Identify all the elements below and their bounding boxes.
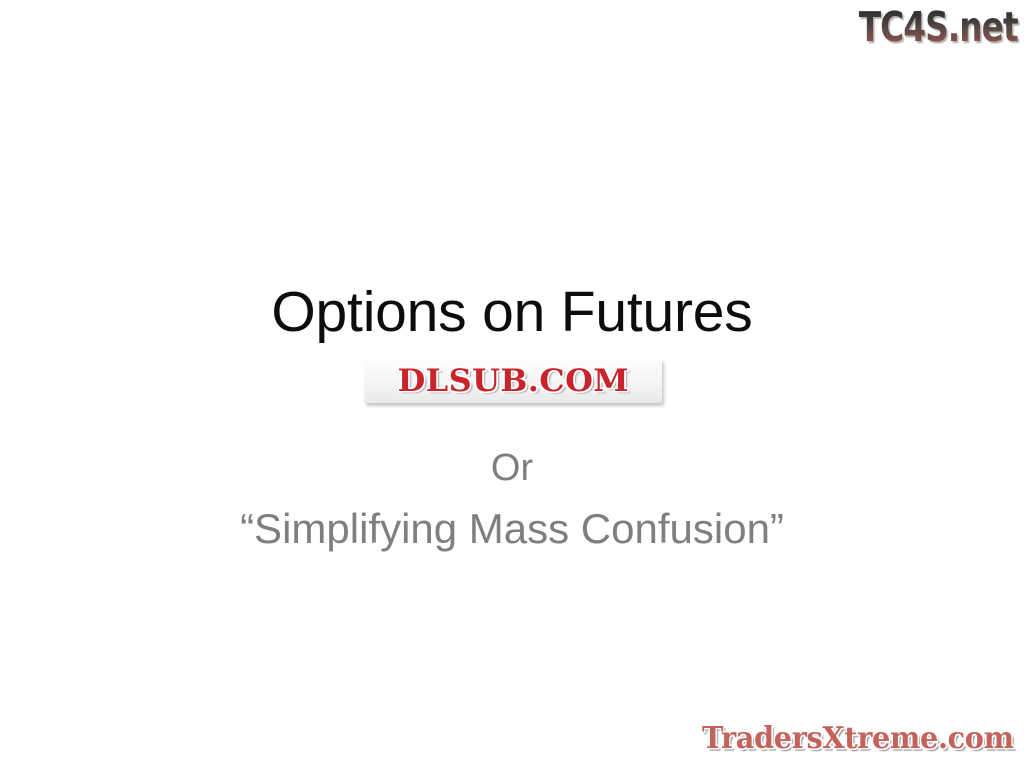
watermark-dlsub-text: DLSUB.COM <box>397 363 628 399</box>
slide-subtitle: Or “Simplifying Mass Confusion” <box>0 440 1024 560</box>
brand-logo-tc4s-text: TC4S.net <box>859 7 1018 48</box>
presentation-slide: TC4S.net Options on Futures DLSUB.COM Or… <box>0 0 1024 768</box>
slide-title-text: Options on Futures <box>271 283 752 343</box>
brand-logo-tc4s: TC4S.net <box>834 2 1018 52</box>
brand-logo-tradersxtreme: TradersXtreme.com <box>684 716 1014 760</box>
slide-title: Options on Futures <box>0 283 1024 343</box>
watermark-dlsub: DLSUB.COM <box>364 359 662 403</box>
brand-logo-tradersxtreme-text: TradersXtreme.com <box>702 721 1014 756</box>
slide-subtitle-line-2: “Simplifying Mass Confusion” <box>0 497 1024 560</box>
slide-subtitle-line-1: Or <box>0 440 1024 497</box>
